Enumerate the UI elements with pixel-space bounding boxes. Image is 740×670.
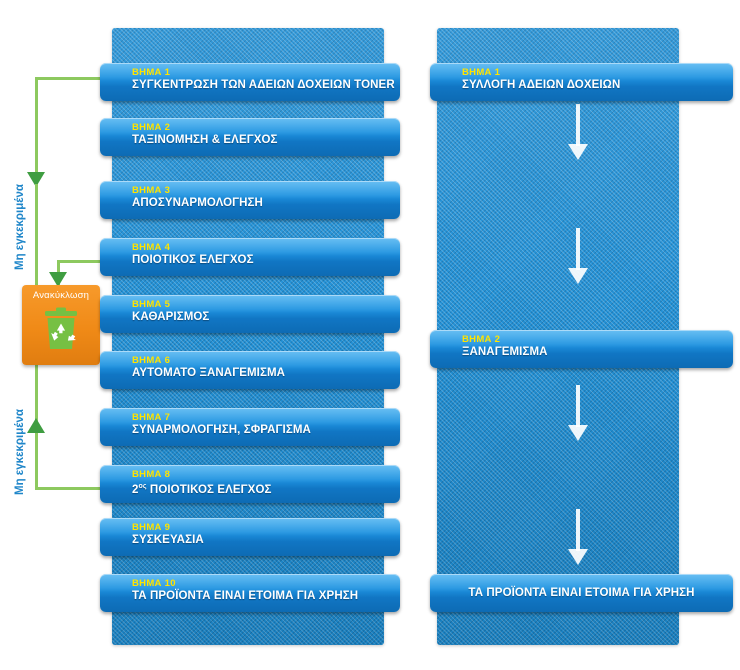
step-title: ΣΥΓΚΕΝΤΡΩΣΗ ΤΩΝ ΑΔΕΙΩΝ ΔΟΧΕΙΩΝ TONER [132,78,390,92]
step-title: ΠΟΙΟΤΙΚΟΣ ΕΛΕΓΧΟΣ [132,253,390,267]
reject-arrowhead-bottom [27,418,45,433]
left-step-card-2[interactable]: ΒΗΜΑ 2 ΤΑΞΙΝΟΜΗΣΗ & ΕΛΕΓΧΟΣ [100,118,400,156]
reject-line-top-horizontal [35,77,103,80]
recycling-box[interactable]: Ανακύκλωση [22,285,100,365]
final-title: ΤΑ ΠΡΟΪΟΝΤΑ ΕΙΝΑΙ ΕΤΟΙΜΑ ΓΙΑ ΧΡΗΣΗ [468,586,694,600]
step-title: ΣΥΛΛΟΓΗ ΑΔΕΙΩΝ ΔΟΧΕΙΩΝ [462,78,723,92]
step-title: ΤΑΞΙΝΟΜΗΣΗ & ΕΛΕΓΧΟΣ [132,133,390,147]
step-title: ΣΥΝΑΡΜΟΛΟΓΗΣΗ, ΣΦΡΑΓΙΣΜΑ [132,423,390,437]
flow-arrow-2 [572,228,584,284]
flow-arrow-4 [572,509,584,565]
step-label: ΒΗΜΑ 2 [132,122,390,133]
left-step-card-9[interactable]: ΒΗΜΑ 9 ΣΥΣΚΕΥΑΣΙΑ [100,518,400,556]
process-diagram: Μη εγκεκριμένα Μη εγκεκριμένα Ανακύκλωση [0,0,740,670]
step-title: ΑΠΟΣΥΝΑΡΜΟΛΟΓΗΣΗ [132,196,390,210]
left-step-card-8[interactable]: ΒΗΜΑ 8 2ος ΠΟΙΟΤΙΚΟΣ ΕΛΕΓΧΟΣ [100,465,400,503]
reject-label-bottom: Μη εγκεκριμένα [14,409,26,495]
flow-arrow-1 [572,104,584,160]
step-title-8-rest: ΠΟΙΟΤΙΚΟΣ ΕΛΕΓΧΟΣ [147,484,272,496]
flow-arrow-3 [572,385,584,441]
reject-line-bottom-horizontal [35,487,103,490]
step-label: ΒΗΜΑ 2 [462,334,723,345]
step-title-8: 2ος ΠΟΙΟΤΙΚΟΣ ΕΛΕΓΧΟΣ [132,480,390,497]
left-step-card-5[interactable]: ΒΗΜΑ 5 ΚΑΘΑΡΙΣΜΟΣ [100,295,400,333]
step-label: ΒΗΜΑ 6 [132,355,390,366]
right-step-card-1[interactable]: ΒΗΜΑ 1 ΣΥΛΛΟΓΗ ΑΔΕΙΩΝ ΔΟΧΕΙΩΝ [430,63,733,101]
reject-line-top-to-box [35,184,38,288]
step-label: ΒΗΜΑ 3 [132,185,390,196]
left-step-card-4[interactable]: ΒΗΜΑ 4 ΠΟΙΟΤΙΚΟΣ ΕΛΕΓΧΟΣ [100,238,400,276]
left-step-card-10[interactable]: ΒΗΜΑ 10 ΤΑ ΠΡΟΪΟΝΤΑ ΕΙΝΑΙ ΕΤΟΙΜΑ ΓΙΑ ΧΡΗ… [100,574,400,612]
step-label: ΒΗΜΑ 1 [132,67,390,78]
reject-line-step4-horizontal [57,260,103,263]
reject-line-top-vertical [35,77,38,184]
step-label: ΒΗΜΑ 8 [132,469,390,480]
step-label: ΒΗΜΑ 10 [132,578,390,589]
step-label: ΒΗΜΑ 1 [462,67,723,78]
step-title: ΑΥΤΟΜΑΤΟ ΞΑΝΑΓΕΜΙΣΜΑ [132,366,390,380]
left-step-card-7[interactable]: ΒΗΜΑ 7 ΣΥΝΑΡΜΟΛΟΓΗΣΗ, ΣΦΡΑΓΙΣΜΑ [100,408,400,446]
step-title: ΣΥΣΚΕΥΑΣΙΑ [132,533,390,547]
step-title: ΞΑΝΑΓΕΜΙΣΜΑ [462,345,723,359]
recycling-label: Ανακύκλωση [22,290,100,302]
step-label: ΒΗΜΑ 4 [132,242,390,253]
step-title: ΤΑ ΠΡΟΪΟΝΤΑ ΕΙΝΑΙ ΕΤΟΙΜΑ ΓΙΑ ΧΡΗΣΗ [132,589,390,603]
step-label: ΒΗΜΑ 9 [132,522,390,533]
step-title-8-sup: ος [139,483,147,490]
step-label: ΒΗΜΑ 7 [132,412,390,423]
right-final-card[interactable]: ΤΑ ΠΡΟΪΟΝΤΑ ΕΙΝΑΙ ΕΤΟΙΜΑ ΓΙΑ ΧΡΗΣΗ [430,574,733,612]
left-step-card-1[interactable]: ΒΗΜΑ 1 ΣΥΓΚΕΝΤΡΩΣΗ ΤΩΝ ΑΔΕΙΩΝ ΔΟΧΕΙΩΝ TO… [100,63,400,101]
step-label: ΒΗΜΑ 5 [132,299,390,310]
right-step-card-2[interactable]: ΒΗΜΑ 2 ΞΑΝΑΓΕΜΙΣΜΑ [430,330,733,368]
step-title: ΚΑΘΑΡΙΣΜΟΣ [132,310,390,324]
reject-label-top: Μη εγκεκριμένα [14,184,26,270]
left-step-card-3[interactable]: ΒΗΜΑ 3 ΑΠΟΣΥΝΑΡΜΟΛΟΓΗΣΗ [100,181,400,219]
left-step-card-6[interactable]: ΒΗΜΑ 6 ΑΥΤΟΜΑΤΟ ΞΑΝΑΓΕΜΙΣΜΑ [100,351,400,389]
recycle-bin-icon [44,307,78,351]
